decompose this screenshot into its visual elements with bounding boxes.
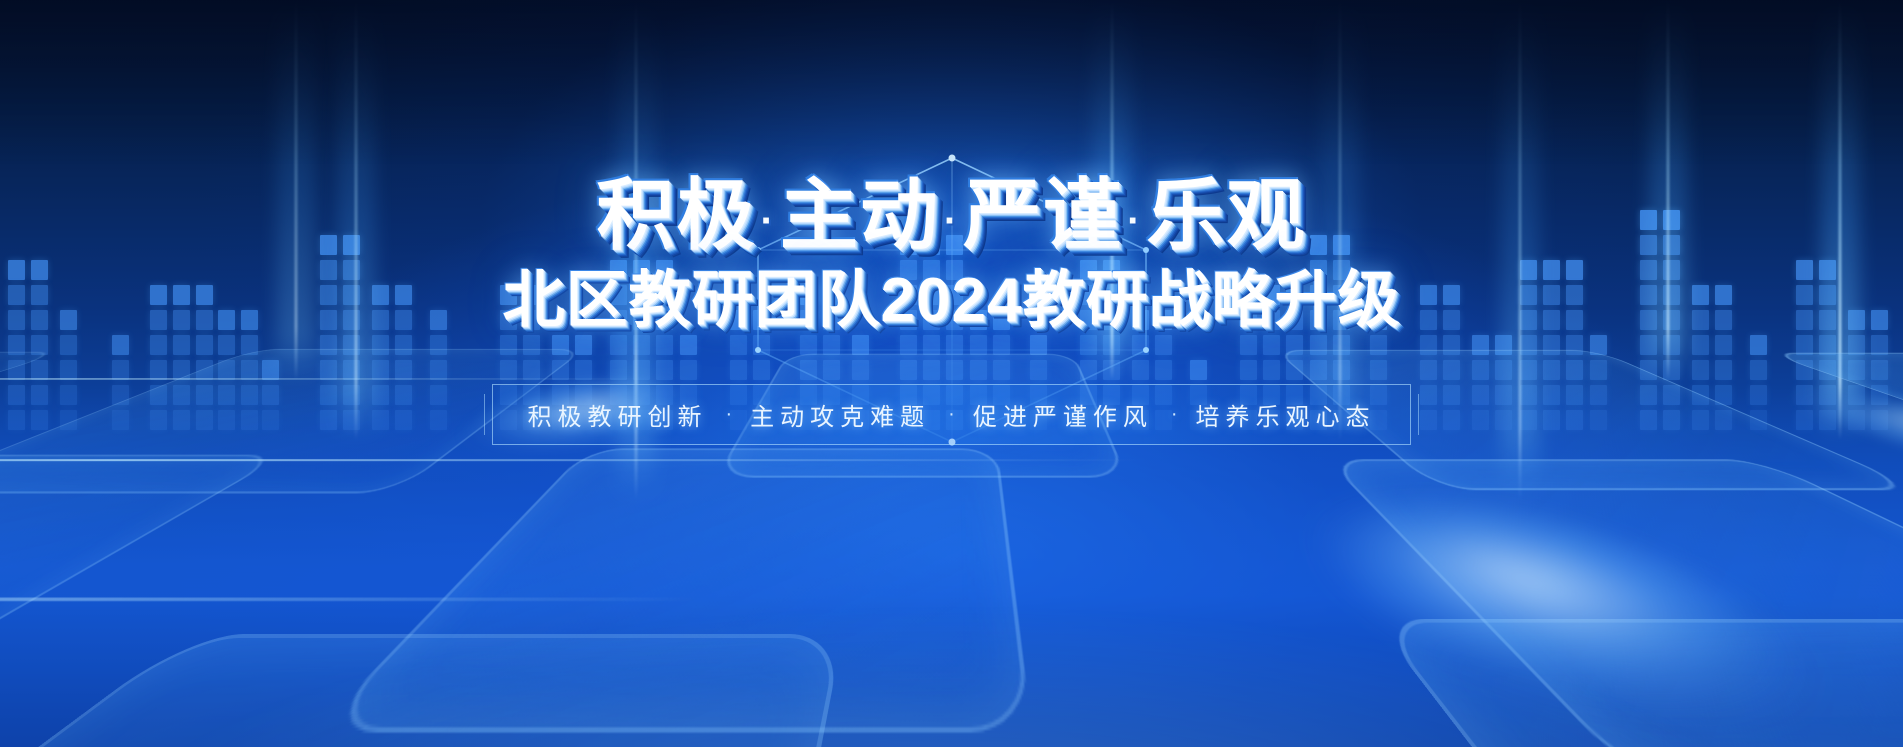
title-separator: · [1127,199,1142,243]
main-title: 积极·主动·严谨·乐观 [596,176,1306,254]
title-word: 严谨 [963,171,1123,259]
title-word: 主动 [780,171,940,259]
tagline-separator: · [707,403,750,426]
sub-title: 北区教研团队2024教研战略升级 [503,270,1401,332]
title-word: 积极 [596,171,756,259]
tagline-list: 积极教研创新·主动攻克难题·促进严谨作风·培养乐观心态 [527,397,1375,432]
tagline-item: 培养乐观心态 [1196,397,1376,432]
tagline-separator: · [930,403,973,426]
tagline-item: 积极教研创新 [527,397,707,432]
title-separator: · [944,199,959,243]
tech-banner: 积极·主动·严谨·乐观 北区教研团队2024教研战略升级 积极教研创新·主动攻克… [0,0,1903,747]
tagline-bar: 积极教研创新·主动攻克难题·促进严谨作风·培养乐观心态 [492,384,1410,445]
title-separator: · [760,199,775,243]
tagline-item: 主动攻克难题 [750,397,930,432]
tagline-separator: · [1153,403,1196,426]
banner-content: 积极·主动·严谨·乐观 北区教研团队2024教研战略升级 积极教研创新·主动攻克… [0,0,1903,747]
tagline-item: 促进严谨作风 [973,397,1153,432]
title-word: 乐观 [1147,171,1307,259]
